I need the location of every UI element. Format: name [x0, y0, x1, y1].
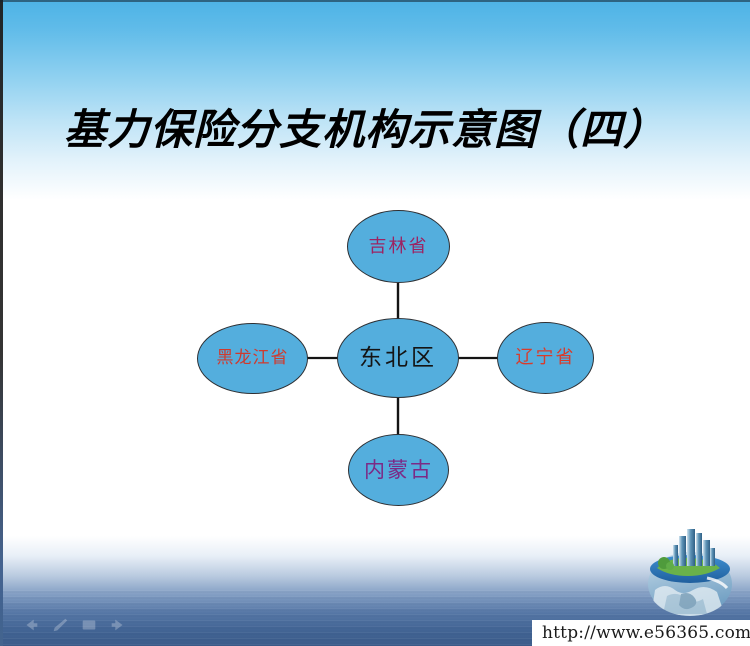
pen-icon[interactable] — [51, 616, 69, 634]
watermark-url-text: http://www.e56365.com — [542, 623, 750, 643]
diagram-node-neimenggu[interactable]: 内蒙古 — [348, 434, 449, 506]
watermark-url-box: http://www.e56365.com — [532, 620, 750, 646]
arrow-left-icon[interactable] — [22, 616, 40, 634]
tree-icon — [666, 562, 674, 570]
node-label: 吉林省 — [369, 238, 429, 256]
presentation-slide: 基力保险分支机构示意图（四） 吉林省 黑龙江省 东北区 辽宁省 内蒙古 — [0, 0, 750, 646]
diagram-node-heilongjiang[interactable]: 黑龙江省 — [197, 323, 308, 394]
node-label: 黑龙江省 — [217, 350, 289, 367]
diagram-node-dongbei[interactable]: 东北区 — [337, 318, 459, 398]
node-label: 内蒙古 — [364, 460, 433, 481]
globe-city-logo — [637, 520, 743, 624]
city-buildings — [673, 529, 715, 566]
slideshow-nav-controls[interactable] — [22, 616, 127, 634]
slide-menu-icon[interactable] — [80, 616, 98, 634]
diagram-node-jilin[interactable]: 吉林省 — [347, 210, 450, 283]
node-label: 东北区 — [359, 347, 437, 370]
node-label: 辽宁省 — [516, 349, 576, 367]
arrow-right-icon[interactable] — [109, 616, 127, 634]
diagram-node-liaoning[interactable]: 辽宁省 — [497, 322, 594, 394]
